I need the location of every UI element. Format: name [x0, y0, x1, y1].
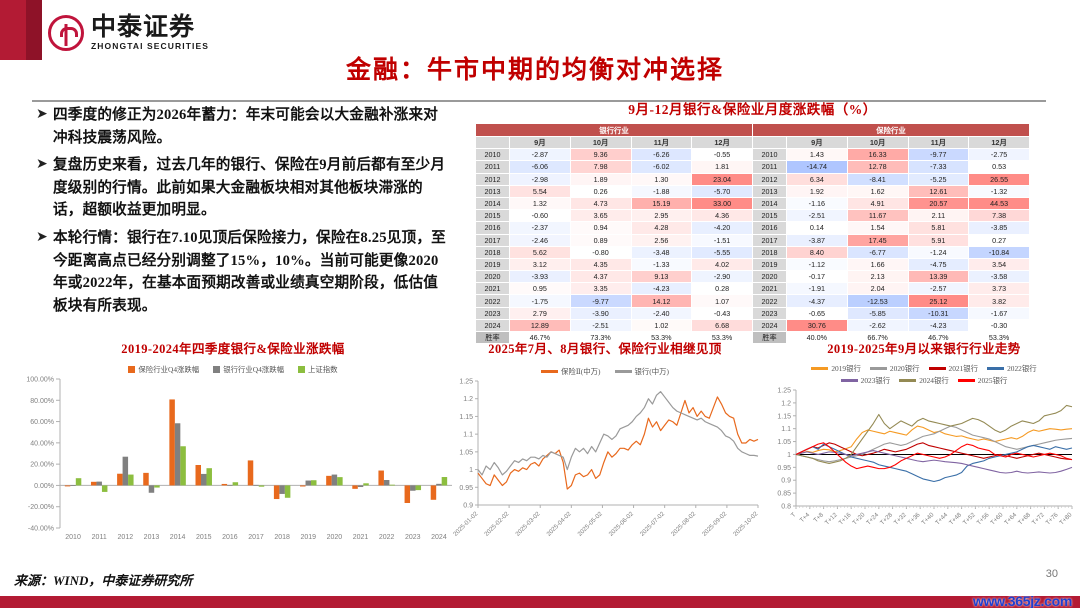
svg-text:2017: 2017: [248, 534, 264, 541]
cell-insurance-return: -0.30: [969, 319, 1030, 331]
svg-text:2012: 2012: [118, 534, 134, 541]
column-header: 11月: [908, 137, 969, 149]
source-note: 来源：WIND，中泰证券研究所: [14, 570, 192, 589]
cell-insurance-return: -9.77: [908, 149, 969, 161]
legend-item: 2019银行: [811, 363, 861, 374]
cell-insurance-return: -4.75: [908, 258, 969, 270]
svg-text:T+20: T+20: [851, 511, 866, 526]
cell-insurance-return: 17.45: [847, 234, 908, 246]
row-year: 2015: [476, 210, 510, 222]
row-year: 2023: [476, 307, 510, 319]
cell-insurance-return: 8.40: [787, 246, 848, 258]
chart-2025-bank-insurance-top: 2025年7月、8月银行、保险行业相继见顶 保险Ⅱ(中万) 银行(中万) 1.2…: [440, 338, 770, 563]
legend-label: 保险Ⅱ(中万): [561, 366, 601, 377]
cell-bank-return: 15.19: [631, 197, 692, 209]
svg-text:2013: 2013: [144, 534, 160, 541]
cell-insurance-return: -2.62: [847, 319, 908, 331]
cell-insurance-return: -1.67: [969, 307, 1030, 319]
cell-bank-return: -2.98: [510, 173, 571, 185]
table-column-header-row: 9月10月11月12月9月10月11月12月: [476, 137, 1030, 149]
row-year: 2011: [753, 161, 787, 173]
legend-item: 2025银行: [958, 375, 1008, 386]
cell-bank-return: 9.36: [570, 149, 631, 161]
cell-insurance-return: 1.43: [787, 149, 848, 161]
svg-text:0.9: 0.9: [781, 478, 791, 485]
row-year: 2024: [476, 319, 510, 331]
cell-insurance-return: 20.57: [908, 197, 969, 209]
brand-name-en: ZHONGTAI SECURITIES: [91, 41, 209, 51]
column-header: 12月: [692, 137, 753, 149]
column-header: [753, 137, 787, 149]
svg-text:2025-06-02: 2025-06-02: [608, 510, 636, 538]
brand-logo: 中泰证券 ZHONGTAI SECURITIES: [48, 14, 209, 51]
row-year: 2020: [753, 271, 787, 283]
cell-insurance-return: 1.66: [847, 258, 908, 270]
svg-text:T: T: [790, 511, 798, 519]
table-row: 2022-1.75-9.7714.121.072022-4.37-12.5325…: [476, 295, 1030, 307]
arrow-bullet-icon: ➤: [36, 104, 53, 126]
cell-insurance-return: 30.76: [787, 319, 848, 331]
cell-insurance-return: -12.53: [847, 295, 908, 307]
svg-text:T+44: T+44: [934, 511, 949, 526]
cell-bank-return: -1.75: [510, 295, 571, 307]
cell-insurance-return: 0.27: [969, 234, 1030, 246]
cell-insurance-return: -2.57: [908, 283, 969, 295]
row-year: 2017: [476, 234, 510, 246]
svg-text:T+48: T+48: [948, 511, 963, 526]
cell-insurance-return: 2.13: [847, 271, 908, 283]
watermark: www.365jz.com: [973, 593, 1072, 608]
cell-bank-return: 7.98: [570, 161, 631, 173]
legend-item: 上证指数: [298, 364, 338, 375]
svg-text:2025-10-02: 2025-10-02: [732, 510, 760, 538]
column-header: 9月: [510, 137, 571, 149]
cell-insurance-return: -2.51: [787, 210, 848, 222]
row-year: 2024: [753, 319, 787, 331]
row-year: 2022: [476, 295, 510, 307]
page-number: 30: [1046, 568, 1058, 580]
svg-text:2015: 2015: [196, 534, 212, 541]
cell-insurance-return: -5.85: [847, 307, 908, 319]
svg-text:100.00%: 100.00%: [26, 377, 54, 384]
svg-text:1.2: 1.2: [463, 396, 473, 403]
table-row: 2011-6.067.98-6.021.812011-14.7412.78-7.…: [476, 161, 1030, 173]
cell-bank-return: 4.35: [570, 258, 631, 270]
cell-bank-return: 3.65: [570, 210, 631, 222]
cell-bank-return: -1.88: [631, 185, 692, 197]
cell-bank-return: 3.12: [510, 258, 571, 270]
cell-insurance-return: 2.11: [908, 210, 969, 222]
row-year: 2016: [753, 222, 787, 234]
cell-bank-return: -2.87: [510, 149, 571, 161]
cell-insurance-return: 3.54: [969, 258, 1030, 270]
cell-insurance-return: 44.53: [969, 197, 1030, 209]
cell-bank-return: 0.26: [570, 185, 631, 197]
svg-text:T+60: T+60: [989, 511, 1004, 526]
decor-corner-block-left: [0, 0, 26, 60]
cell-bank-return: -6.06: [510, 161, 571, 173]
cell-insurance-return: 1.54: [847, 222, 908, 234]
cell-insurance-return: -14.74: [787, 161, 848, 173]
svg-text:0.8: 0.8: [781, 504, 791, 511]
svg-text:2025-02-02: 2025-02-02: [483, 510, 511, 538]
cell-bank-return: 1.32: [510, 197, 571, 209]
cell-bank-return: 1.89: [570, 173, 631, 185]
cell-bank-return: 33.00: [692, 197, 753, 209]
svg-text:1.2: 1.2: [781, 400, 791, 407]
chart-canvas: 1.251.21.151.11.0510.950.92025-01-022025…: [440, 377, 770, 567]
row-year: 2020: [476, 271, 510, 283]
page-title: 金融：牛市中期的均衡对冲选择: [300, 50, 770, 86]
cell-bank-return: 12.89: [510, 319, 571, 331]
svg-text:1.15: 1.15: [459, 414, 473, 421]
svg-text:1.05: 1.05: [777, 439, 791, 446]
chart-canvas: 1.251.21.151.11.0510.950.90.850.8TT+4T+8…: [768, 386, 1080, 564]
list-item: ➤ 本轮行情：银行在7.10见顶后保险接力，保险在8.25见顶，至今距离高点已经…: [36, 227, 451, 317]
table-row: 2017-2.460.892.56-1.512017-3.8717.455.91…: [476, 234, 1030, 246]
svg-text:2019: 2019: [300, 534, 316, 541]
cell-insurance-return: -3.58: [969, 271, 1030, 283]
svg-text:0.00%: 0.00%: [34, 483, 54, 490]
table-row: 202412.89-2.511.026.68202430.76-2.62-4.2…: [476, 319, 1030, 331]
svg-text:T+32: T+32: [893, 511, 908, 526]
table-row: 2016-2.370.944.28-4.2020160.141.545.81-3…: [476, 222, 1030, 234]
cell-insurance-return: 2.04: [847, 283, 908, 295]
cell-bank-return: 0.94: [570, 222, 631, 234]
cell-insurance-return: 4.91: [847, 197, 908, 209]
cell-bank-return: 1.02: [631, 319, 692, 331]
legend-label: 2019银行: [831, 363, 861, 374]
row-year: 2011: [476, 161, 510, 173]
arrow-bullet-icon: ➤: [36, 227, 53, 249]
legend-item: 2024银行: [899, 375, 949, 386]
row-year: 2010: [753, 149, 787, 161]
cell-bank-return: -5.70: [692, 185, 753, 197]
column-header: [476, 137, 510, 149]
cell-insurance-return: -0.17: [787, 271, 848, 283]
svg-text:T+80: T+80: [1058, 511, 1073, 526]
cell-bank-return: 1.81: [692, 161, 753, 173]
cell-insurance-return: -5.25: [908, 173, 969, 185]
svg-text:T+76: T+76: [1045, 511, 1060, 526]
legend-label: 保险行业Q4涨跌幅: [138, 364, 199, 375]
bullet-text: 本轮行情：银行在7.10见顶后保险接力，保险在8.25见顶，至今距离高点已经分别…: [53, 227, 451, 317]
cell-insurance-return: 11.67: [847, 210, 908, 222]
cell-bank-return: 0.89: [570, 234, 631, 246]
cell-bank-return: -5.55: [692, 246, 753, 258]
svg-text:T+12: T+12: [824, 511, 839, 526]
table-row: 20185.62-0.80-3.48-5.5520188.40-6.77-1.2…: [476, 246, 1030, 258]
footer-bar: [0, 596, 1080, 608]
cell-bank-return: -6.26: [631, 149, 692, 161]
column-header: 12月: [969, 137, 1030, 149]
cell-bank-return: 4.36: [692, 210, 753, 222]
cell-bank-return: 0.95: [510, 283, 571, 295]
cell-bank-return: -2.46: [510, 234, 571, 246]
svg-text:0.85: 0.85: [777, 491, 791, 498]
row-year: 2019: [476, 258, 510, 270]
chart-legend-row-2: 2023银行2024银行2025银行: [768, 375, 1080, 386]
svg-text:1.1: 1.1: [781, 426, 791, 433]
cell-insurance-return: 16.33: [847, 149, 908, 161]
legend-label: 2021银行: [949, 363, 979, 374]
cell-insurance-return: -1.32: [969, 185, 1030, 197]
cell-insurance-return: 3.82: [969, 295, 1030, 307]
cell-insurance-return: -4.37: [787, 295, 848, 307]
cell-insurance-return: 7.38: [969, 210, 1030, 222]
legend-item: 2021银行: [929, 363, 979, 374]
svg-text:T+36: T+36: [907, 511, 922, 526]
svg-text:20.00%: 20.00%: [30, 462, 54, 469]
group-header-bank: 银行行业: [476, 124, 753, 137]
cell-insurance-return: -0.65: [787, 307, 848, 319]
legend-item: 保险Ⅱ(中万): [541, 366, 601, 377]
cell-insurance-return: 1.92: [787, 185, 848, 197]
column-header: 10月: [847, 137, 908, 149]
cell-bank-return: 1.07: [692, 295, 753, 307]
chart-title: 2019-2024年四季度银行&保险业涨跌幅: [8, 338, 458, 357]
svg-text:2025-07-02: 2025-07-02: [639, 510, 667, 538]
cell-insurance-return: 12.78: [847, 161, 908, 173]
svg-text:2025-03-02: 2025-03-02: [514, 510, 542, 538]
svg-text:T+64: T+64: [1003, 511, 1018, 526]
cell-bank-return: 2.79: [510, 307, 571, 319]
cell-bank-return: -3.48: [631, 246, 692, 258]
legend-label: 2020银行: [890, 363, 920, 374]
zhongtai-logo-icon: [48, 15, 84, 51]
chart-q4-bank-insurance-returns: 2019-2024年四季度银行&保险业涨跌幅 保险行业Q4涨跌幅 银行行业Q4涨…: [8, 338, 458, 563]
chart-legend-row-1: 2019银行2020银行2021银行2022银行: [768, 363, 1080, 374]
chart-legend: 保险Ⅱ(中万) 银行(中万): [440, 366, 770, 377]
cell-insurance-return: -1.16: [787, 197, 848, 209]
arrow-bullet-icon: ➤: [36, 154, 53, 176]
cell-bank-return: -2.51: [570, 319, 631, 331]
svg-text:1.25: 1.25: [459, 379, 473, 386]
row-year: 2015: [753, 210, 787, 222]
row-year: 2016: [476, 222, 510, 234]
svg-text:80.00%: 80.00%: [30, 398, 54, 405]
svg-text:T+56: T+56: [976, 511, 991, 526]
cell-insurance-return: -4.23: [908, 319, 969, 331]
svg-text:2025-08-02: 2025-08-02: [670, 510, 698, 538]
cell-bank-return: 3.35: [570, 283, 631, 295]
chart-bank-trend-since-september: 2019-2025年9月以来银行行业走势 2019银行2020银行2021银行2…: [768, 338, 1080, 563]
legend-label: 2023银行: [861, 375, 891, 386]
svg-text:1.25: 1.25: [777, 388, 791, 395]
legend-label: 2022银行: [1007, 363, 1037, 374]
chart-canvas: 100.00%80.00%60.00%40.00%20.00%0.00%-20.…: [8, 375, 458, 560]
cell-bank-return: 23.04: [692, 173, 753, 185]
monthly-returns-table: 银行行业 保险行业 9月10月11月12月9月10月11月12月 2010-2.…: [475, 123, 1030, 344]
svg-text:2011: 2011: [92, 534, 107, 541]
row-year: 2014: [476, 197, 510, 209]
table-title: 9月-12月银行&保险业月度涨跌幅（%）: [460, 98, 1045, 118]
bullet-list: ➤ 四季度的修正为2026年蓄力：年末可能会以大金融补涨来对冲科技震荡风险。 ➤…: [36, 104, 451, 322]
cell-insurance-return: 12.61: [908, 185, 969, 197]
svg-text:1: 1: [469, 467, 473, 474]
row-year: 2012: [476, 173, 510, 185]
svg-text:2018: 2018: [274, 534, 290, 541]
cell-bank-return: -6.02: [631, 161, 692, 173]
svg-text:T+28: T+28: [879, 511, 894, 526]
legend-item: 保险行业Q4涨跌幅: [128, 364, 199, 375]
row-year: 2018: [753, 246, 787, 258]
svg-text:-40.00%: -40.00%: [28, 526, 54, 533]
svg-text:2025-04-02: 2025-04-02: [545, 510, 573, 538]
cell-bank-return: 5.54: [510, 185, 571, 197]
table-row: 2015-0.603.652.954.362015-2.5111.672.117…: [476, 210, 1030, 222]
svg-text:1.1: 1.1: [463, 432, 473, 439]
row-year: 2019: [753, 258, 787, 270]
svg-text:T+52: T+52: [962, 511, 977, 526]
svg-text:1.15: 1.15: [777, 413, 791, 420]
svg-text:0.95: 0.95: [777, 465, 791, 472]
row-year: 2013: [476, 185, 510, 197]
svg-text:T+4: T+4: [799, 511, 812, 524]
cell-bank-return: -0.43: [692, 307, 753, 319]
table-row: 2020-3.934.379.13-2.902020-0.172.1313.39…: [476, 271, 1030, 283]
legend-item: 2020银行: [870, 363, 920, 374]
brand-name-cn: 中泰证券: [91, 14, 209, 40]
cell-bank-return: 2.56: [631, 234, 692, 246]
svg-text:40.00%: 40.00%: [30, 440, 54, 447]
svg-text:60.00%: 60.00%: [30, 419, 54, 426]
table-row: 20232.79-3.90-2.40-0.432023-0.65-5.85-10…: [476, 307, 1030, 319]
cell-bank-return: 2.95: [631, 210, 692, 222]
row-year: 2010: [476, 149, 510, 161]
cell-insurance-return: -3.85: [969, 222, 1030, 234]
cell-bank-return: 4.37: [570, 271, 631, 283]
cell-bank-return: 9.13: [631, 271, 692, 283]
legend-item: 2022银行: [987, 363, 1037, 374]
row-year: 2013: [753, 185, 787, 197]
svg-text:T+40: T+40: [920, 511, 935, 526]
svg-text:2023: 2023: [405, 534, 421, 541]
cell-insurance-return: 3.73: [969, 283, 1030, 295]
svg-text:2022: 2022: [379, 534, 395, 541]
svg-text:2016: 2016: [222, 534, 238, 541]
cell-insurance-return: 26.55: [969, 173, 1030, 185]
svg-text:T+16: T+16: [838, 511, 853, 526]
cell-bank-return: -3.90: [570, 307, 631, 319]
cell-bank-return: -1.51: [692, 234, 753, 246]
table-row: 2010-2.879.36-6.26-0.5520101.4316.33-9.7…: [476, 149, 1030, 161]
legend-label: 2025银行: [978, 375, 1008, 386]
row-year: 2023: [753, 307, 787, 319]
svg-text:T+72: T+72: [1031, 511, 1046, 526]
table-body: 2010-2.879.36-6.26-0.5520101.4316.33-9.7…: [476, 149, 1030, 344]
cell-bank-return: -4.20: [692, 222, 753, 234]
cell-insurance-return: -6.77: [847, 246, 908, 258]
svg-text:T+24: T+24: [865, 511, 880, 526]
cell-bank-return: -4.23: [631, 283, 692, 295]
cell-bank-return: -0.55: [692, 149, 753, 161]
svg-text:2010: 2010: [65, 534, 81, 541]
cell-bank-return: 6.68: [692, 319, 753, 331]
cell-insurance-return: 13.39: [908, 271, 969, 283]
column-header: 10月: [570, 137, 631, 149]
cell-insurance-return: 1.62: [847, 185, 908, 197]
cell-insurance-return: 0.14: [787, 222, 848, 234]
legend-label: 2024银行: [919, 375, 949, 386]
svg-text:2021: 2021: [353, 534, 369, 541]
monthly-returns-table-panel: 9月-12月银行&保险业月度涨跌幅（%） 银行行业 保险行业 9月10月11月1…: [460, 98, 1045, 344]
cell-insurance-return: -1.91: [787, 283, 848, 295]
chart-title: 2025年7月、8月银行、保险行业相继见顶: [440, 338, 770, 357]
legend-item: 银行行业Q4涨跌幅: [213, 364, 284, 375]
table-row: 20135.540.26-1.88-5.7020131.921.6212.61-…: [476, 185, 1030, 197]
table-row: 20210.953.35-4.230.282021-1.912.04-2.573…: [476, 283, 1030, 295]
cell-insurance-return: -7.33: [908, 161, 969, 173]
svg-text:-20.00%: -20.00%: [28, 504, 54, 511]
cell-insurance-return: -10.31: [908, 307, 969, 319]
svg-text:2020: 2020: [327, 534, 343, 541]
cell-insurance-return: 25.12: [908, 295, 969, 307]
row-year: 2021: [476, 283, 510, 295]
cell-bank-return: 14.12: [631, 295, 692, 307]
cell-bank-return: -0.80: [570, 246, 631, 258]
group-header-insurance: 保险行业: [753, 124, 1030, 137]
cell-insurance-return: -10.84: [969, 246, 1030, 258]
cell-insurance-return: -2.75: [969, 149, 1030, 161]
cell-insurance-return: 5.91: [908, 234, 969, 246]
cell-bank-return: -2.90: [692, 271, 753, 283]
row-year: 2017: [753, 234, 787, 246]
table-row: 2012-2.981.891.3023.0420126.34-8.41-5.25…: [476, 173, 1030, 185]
table-row: 20141.324.7315.1933.002014-1.164.9120.57…: [476, 197, 1030, 209]
svg-text:2025-05-02: 2025-05-02: [577, 510, 605, 538]
bullet-text: 复盘历史来看，过去几年的银行、保险在9月前后都有至少月度级别的行情。此前如果大金…: [53, 154, 451, 222]
table-group-header-row: 银行行业 保险行业: [476, 124, 1030, 137]
legend-item: 银行(中万): [615, 366, 670, 377]
legend-item: 2023银行: [841, 375, 891, 386]
row-year: 2021: [753, 283, 787, 295]
list-item: ➤ 四季度的修正为2026年蓄力：年末可能会以大金融补涨来对冲科技震荡风险。: [36, 104, 451, 149]
cell-bank-return: 0.28: [692, 283, 753, 295]
svg-text:2025-01-02: 2025-01-02: [452, 510, 480, 538]
row-year: 2014: [753, 197, 787, 209]
chart-title: 2019-2025年9月以来银行行业走势: [768, 338, 1080, 357]
svg-text:0.95: 0.95: [459, 485, 473, 492]
cell-insurance-return: 6.34: [787, 173, 848, 185]
cell-insurance-return: -8.41: [847, 173, 908, 185]
row-year: 2012: [753, 173, 787, 185]
svg-text:1.05: 1.05: [459, 449, 473, 456]
cell-bank-return: -2.40: [631, 307, 692, 319]
cell-insurance-return: 0.53: [969, 161, 1030, 173]
cell-bank-return: 5.62: [510, 246, 571, 258]
column-header: 11月: [631, 137, 692, 149]
cell-bank-return: 4.02: [692, 258, 753, 270]
legend-label: 银行(中万): [635, 366, 670, 377]
row-year: 2022: [753, 295, 787, 307]
svg-text:2014: 2014: [170, 534, 186, 541]
chart-legend: 保险行业Q4涨跌幅 银行行业Q4涨跌幅 上证指数: [8, 364, 458, 375]
svg-text:1: 1: [787, 452, 791, 459]
svg-text:T+68: T+68: [1017, 511, 1032, 526]
cell-bank-return: 4.73: [570, 197, 631, 209]
decor-corner-block-right: [26, 0, 42, 60]
cell-bank-return: -0.60: [510, 210, 571, 222]
column-header: 9月: [787, 137, 848, 149]
row-year: 2018: [476, 246, 510, 258]
bullet-text: 四季度的修正为2026年蓄力：年末可能会以大金融补涨来对冲科技震荡风险。: [53, 104, 451, 149]
cell-insurance-return: -3.87: [787, 234, 848, 246]
list-item: ➤ 复盘历史来看，过去几年的银行、保险在9月前后都有至少月度级别的行情。此前如果…: [36, 154, 451, 222]
cell-insurance-return: -1.12: [787, 258, 848, 270]
legend-label: 银行行业Q4涨跌幅: [223, 364, 284, 375]
cell-bank-return: 1.30: [631, 173, 692, 185]
